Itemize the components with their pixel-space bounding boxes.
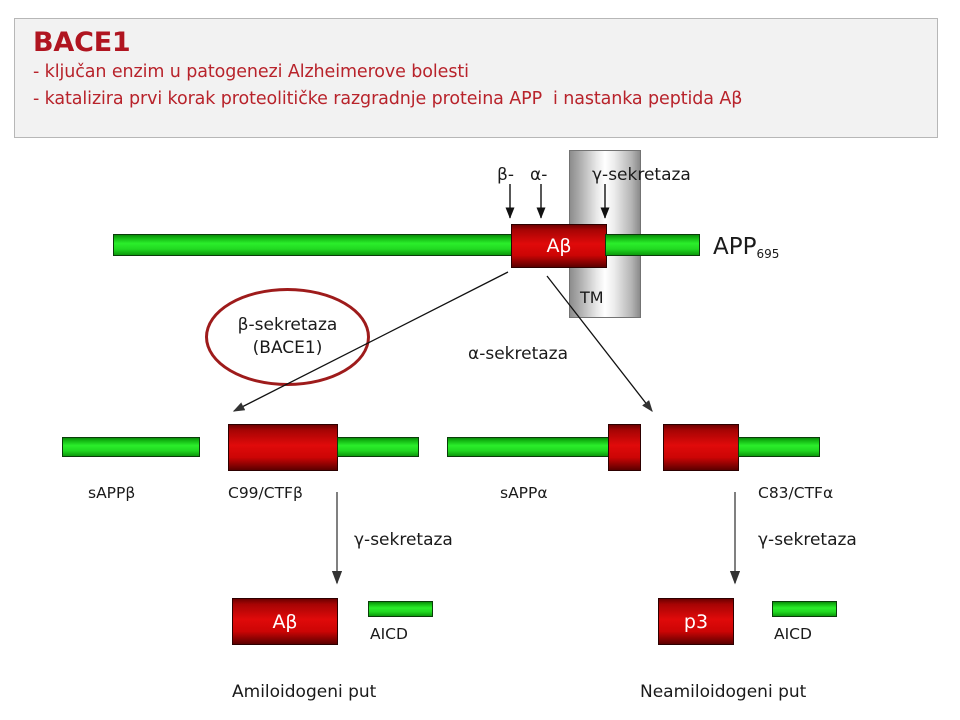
sappa-label: sAPPα <box>500 484 548 502</box>
page-title: BACE1 <box>33 27 923 59</box>
aicd-right-label: AICD <box>774 625 812 643</box>
alpha-secretase-label: α-sekretaza <box>468 344 568 364</box>
abeta-product-label: Aβ <box>272 611 297 633</box>
app-label-text: APP <box>713 234 756 260</box>
membrane-label: TM <box>580 288 604 307</box>
app-c-terminal-bar <box>605 234 700 256</box>
c83-red-block <box>663 424 739 471</box>
beta-secretase-oval-line1: β-sekretaza <box>238 314 338 337</box>
app-protein-label: APP695 <box>713 234 779 261</box>
aicd-left-bar <box>368 601 433 617</box>
header-callout-box: BACE1 - ključan enzim u patogenezi Alzhe… <box>14 18 938 138</box>
sappb-label: sAPPβ <box>88 484 135 502</box>
abeta-product-block: Aβ <box>232 598 338 645</box>
gamma-secretase-label-right: γ-sekretaza <box>758 530 857 550</box>
p3-product-label: p3 <box>684 611 708 633</box>
gamma-cleavage-label: γ-sekretaza <box>592 165 691 185</box>
sappa-bar <box>447 437 609 457</box>
aicd-left-label: AICD <box>370 625 408 643</box>
abeta-region-block: Aβ <box>511 224 607 268</box>
beta-cleavage-label: β- <box>497 165 514 185</box>
p3-product-block: p3 <box>658 598 734 645</box>
amyloidogenic-pathway-label: Amiloidogeni put <box>232 682 376 702</box>
beta-secretase-oval: β-sekretaza (BACE1) <box>205 288 370 386</box>
sappa-red-tip <box>608 424 641 471</box>
header-bullet-2: - katalizira prvi korak proteolitičke ra… <box>33 86 923 113</box>
c99-red-block <box>228 424 338 471</box>
non-amyloidogenic-pathway-label: Neamiloidogeni put <box>640 682 806 702</box>
app-n-terminal-bar <box>113 234 513 256</box>
c83-label: C83/CTFα <box>758 484 833 502</box>
sappb-bar <box>62 437 200 457</box>
c99-green-bar <box>337 437 419 457</box>
beta-secretase-oval-line2: (BACE1) <box>253 337 323 360</box>
abeta-region-label: Aβ <box>546 235 571 257</box>
c99-label: C99/CTFβ <box>228 484 303 502</box>
aicd-right-bar <box>772 601 837 617</box>
app-subscript: 695 <box>756 247 779 261</box>
gamma-secretase-label-left: γ-sekretaza <box>354 530 453 550</box>
c83-green-bar <box>738 437 820 457</box>
alpha-cleavage-label: α- <box>530 165 547 185</box>
header-bullet-1: - ključan enzim u patogenezi Alzheimerov… <box>33 59 923 86</box>
